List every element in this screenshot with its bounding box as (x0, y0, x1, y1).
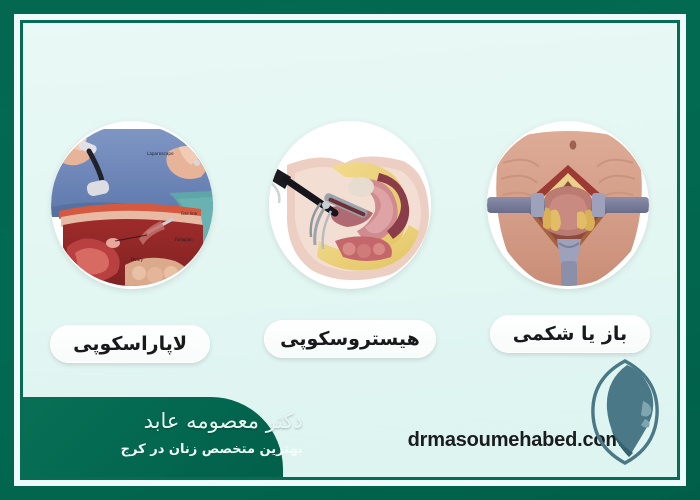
open-abdominal-surgery-illustration (487, 121, 649, 289)
card-hysteroscopy (268, 121, 433, 289)
svg-text:Ovary: Ovary (131, 257, 144, 262)
infographic-root: Laparoscope Gas line Fallopian Ovary (0, 0, 700, 500)
label-row: لاپاراسکوپی هیستروسکوپی باز یا شکمی (23, 311, 677, 357)
svg-text:Laparoscope: Laparoscope (147, 151, 174, 156)
label-text-open-abdominal: باز یا شکمی (513, 323, 627, 345)
laparoscopy-illustration: Laparoscope Gas line Fallopian Ovary (51, 121, 213, 289)
doctor-tagline: بهترین متخصص زنان در کرج (53, 442, 303, 457)
label-text-hysteroscopy: هیستروسکوپی (280, 328, 420, 350)
illustration-row: Laparoscope Gas line Fallopian Ovary (23, 115, 677, 295)
hysteroscopy-illustration (269, 121, 431, 289)
label-pill-laparoscopy[interactable]: لاپاراسکوپی (50, 325, 210, 363)
card-laparoscopy: Laparoscope Gas line Fallopian Ovary (50, 121, 215, 289)
woman-face-profile-logo (581, 357, 669, 469)
content-stage: Laparoscope Gas line Fallopian Ovary (23, 23, 677, 477)
svg-text:Gas line: Gas line (181, 211, 198, 216)
svg-text:Fallopian: Fallopian (175, 237, 193, 242)
label-pill-hysteroscopy[interactable]: هیستروسکوپی (264, 320, 436, 358)
card-open-abdominal (486, 121, 651, 289)
label-text-laparoscopy: لاپاراسکوپی (73, 333, 187, 355)
label-pill-open-abdominal[interactable]: باز یا شکمی (490, 315, 650, 353)
doctor-name: دکتر معصومه عابد (53, 409, 303, 433)
